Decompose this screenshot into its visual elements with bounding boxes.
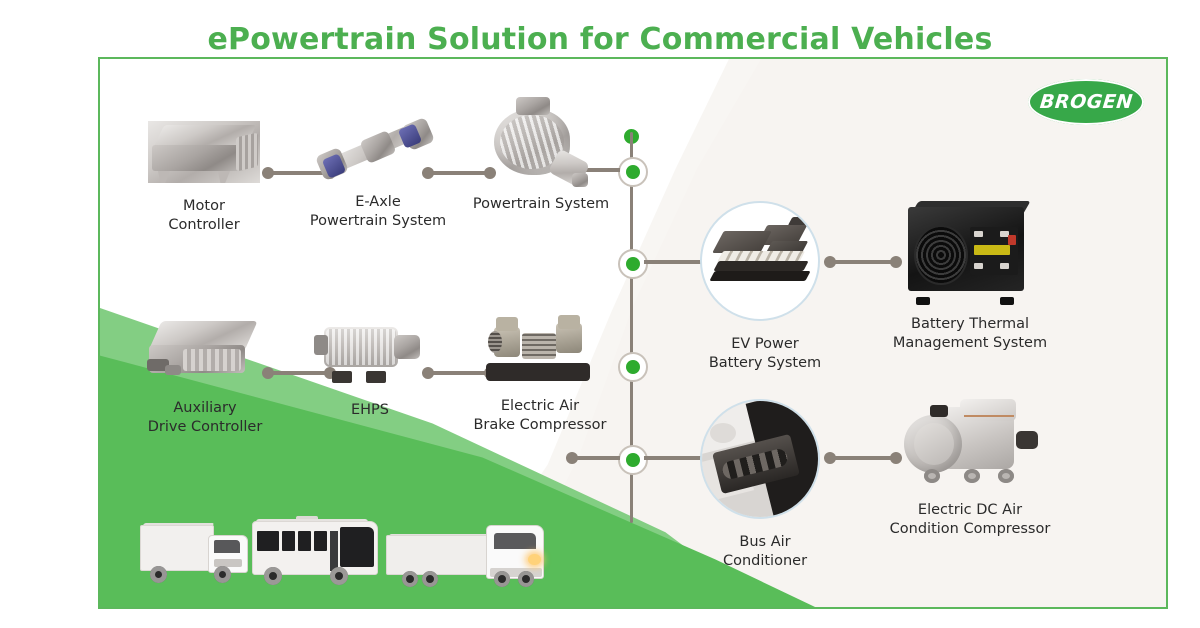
connector-node4-to-busac bbox=[644, 456, 706, 460]
component-auxiliary-drive-controller[interactable]: Auxiliary Drive Controller bbox=[134, 319, 276, 436]
motor-controller-icon bbox=[148, 121, 260, 183]
brogen-logo-text: BROGEN bbox=[1038, 91, 1133, 113]
bus-air-conditioner-icon bbox=[700, 399, 820, 519]
spine-node-1[interactable] bbox=[618, 157, 648, 187]
vehicle-city-bus-icon bbox=[252, 515, 378, 587]
component-label: Motor Controller bbox=[138, 197, 270, 234]
diagram-panel: BROGEN Motor Controller bbox=[98, 57, 1168, 609]
component-battery-thermal-management[interactable]: Battery Thermal Management System bbox=[882, 201, 1058, 352]
component-powertrain-system[interactable]: Powertrain System bbox=[466, 95, 616, 214]
spine-node-4[interactable] bbox=[618, 445, 648, 475]
vehicle-semi-truck-icon bbox=[386, 515, 546, 589]
component-label: Powertrain System bbox=[466, 195, 616, 214]
component-e-axle[interactable]: E-Axle Powertrain System bbox=[298, 109, 458, 230]
vehicle-lineup bbox=[118, 483, 538, 593]
powertrain-system-icon bbox=[486, 95, 596, 191]
brogen-logo: BROGEN bbox=[1028, 79, 1144, 125]
component-label: Auxiliary Drive Controller bbox=[134, 399, 276, 436]
component-dc-air-compressor[interactable]: Electric DC Air Condition Compressor bbox=[880, 397, 1060, 538]
auxiliary-drive-controller-icon bbox=[147, 319, 263, 385]
air-brake-compressor-icon bbox=[482, 315, 598, 385]
e-axle-icon bbox=[315, 109, 441, 181]
component-label: Electric Air Brake Compressor bbox=[460, 397, 620, 434]
battery-pack-icon bbox=[700, 201, 820, 321]
spine-node-3[interactable] bbox=[618, 352, 648, 382]
component-ev-power-battery-system[interactable]: EV Power Battery System bbox=[700, 201, 830, 372]
component-label: Bus Air Conditioner bbox=[700, 533, 830, 570]
vehicle-box-truck-icon bbox=[140, 519, 248, 585]
component-air-brake-compressor[interactable]: Electric Air Brake Compressor bbox=[460, 315, 620, 434]
connector-abc-to-node4 bbox=[572, 456, 620, 460]
dc-air-compressor-icon bbox=[902, 397, 1038, 489]
component-label: Electric DC Air Condition Compressor bbox=[880, 501, 1060, 538]
page-title: ePowertrain Solution for Commercial Vehi… bbox=[0, 22, 1200, 57]
component-label: Battery Thermal Management System bbox=[882, 315, 1058, 352]
ehps-icon bbox=[310, 321, 430, 385]
spine-node-2[interactable] bbox=[618, 249, 648, 279]
component-label: EHPS bbox=[300, 401, 440, 420]
component-motor-controller[interactable]: Motor Controller bbox=[138, 121, 270, 234]
thermal-management-box-icon bbox=[904, 201, 1036, 305]
connector-node2-to-battery bbox=[644, 260, 706, 264]
component-ehps[interactable]: EHPS bbox=[300, 321, 440, 420]
infographic-root: ePowertrain Solution for Commercial Vehi… bbox=[0, 0, 1200, 628]
component-label: EV Power Battery System bbox=[700, 335, 830, 372]
component-bus-air-conditioner[interactable]: Bus Air Conditioner bbox=[700, 399, 830, 570]
component-label: E-Axle Powertrain System bbox=[298, 193, 458, 230]
